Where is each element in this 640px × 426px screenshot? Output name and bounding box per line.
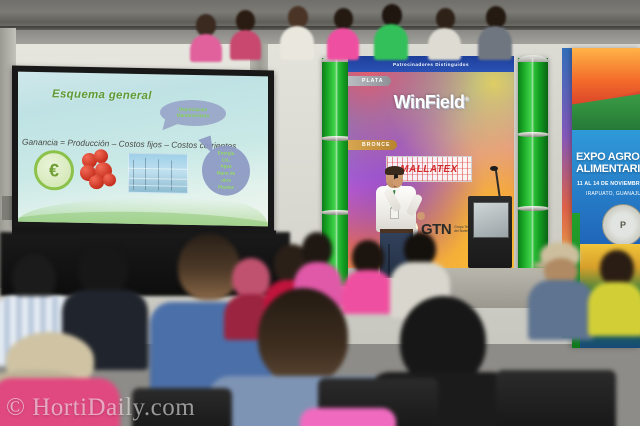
audience-body xyxy=(327,28,359,60)
audience-body xyxy=(342,270,394,314)
bubble-line: Plantas xyxy=(218,184,234,191)
audience-head xyxy=(258,288,348,384)
greenhouse-photo xyxy=(128,153,188,194)
expo-title-line1: EXPO AGRO xyxy=(576,152,640,164)
slide-title: Esquema general xyxy=(52,88,152,102)
audience-back-row xyxy=(0,0,640,60)
projection-screen: Esquema general Ganancia = Producción – … xyxy=(12,65,274,232)
registered-mark-icon: ® xyxy=(464,97,468,103)
audience-body xyxy=(230,30,261,60)
audience-head xyxy=(232,258,270,298)
expo-dates: 11 AL 14 DE NOVIEMBRE xyxy=(577,181,640,187)
speaker-belt xyxy=(380,229,413,233)
audience-head xyxy=(302,232,332,266)
sponsor-logo-winfield: WinField® xyxy=(348,92,514,113)
audience-head xyxy=(486,6,506,28)
euro-coin-icon: € xyxy=(34,150,74,191)
projected-slide: Esquema general Ganancia = Producción – … xyxy=(18,72,268,227)
audience-head xyxy=(436,8,455,29)
expo-city: IRAPUATO, GUANAJUATO xyxy=(586,191,640,197)
audience-head xyxy=(334,8,353,29)
audience-head xyxy=(236,10,255,31)
chair-back xyxy=(496,370,616,426)
audience-head xyxy=(78,242,128,296)
winfield-wordmark: WinField xyxy=(394,92,465,112)
audience-head xyxy=(404,232,436,266)
expo-title: EXPO AGRO ALIMENTARIA xyxy=(576,152,640,175)
photograph-canvas: Esquema general Ganancia = Producción – … xyxy=(0,0,640,426)
audience-head xyxy=(12,254,56,302)
bubble-line: Mantenimiento xyxy=(177,113,209,120)
audience-body xyxy=(374,24,408,60)
audience-body xyxy=(280,26,314,60)
audience-head xyxy=(178,234,240,300)
audience-body xyxy=(588,282,640,336)
callout-bubble-inputs: Energía CO₂ Agua Mano de obra Plantas xyxy=(202,145,250,196)
audience-head xyxy=(600,250,634,286)
tier-tag-plata: PLATA xyxy=(348,76,391,86)
audience-body xyxy=(528,280,594,340)
audience-body xyxy=(428,28,461,60)
audience-body xyxy=(190,34,222,62)
speaker-left-hand xyxy=(393,178,401,187)
audience-head xyxy=(382,4,402,26)
speaker-right-hand xyxy=(417,212,425,220)
audience-body xyxy=(300,408,396,426)
tomato-cluster-image xyxy=(80,149,118,190)
confidence-monitor-screen xyxy=(473,202,509,238)
audience-head xyxy=(196,14,216,36)
audience-body xyxy=(478,26,512,60)
watermark: © HortiDaily.com xyxy=(6,394,195,422)
callout-bubble-depreciation: Depreciación Mantenimiento xyxy=(160,99,226,126)
audience-head xyxy=(352,240,384,274)
audience-head xyxy=(288,6,308,28)
tier-tag-bronce: BRONCE xyxy=(348,140,397,150)
expo-title-line2: ALIMENTARIA xyxy=(576,164,640,176)
